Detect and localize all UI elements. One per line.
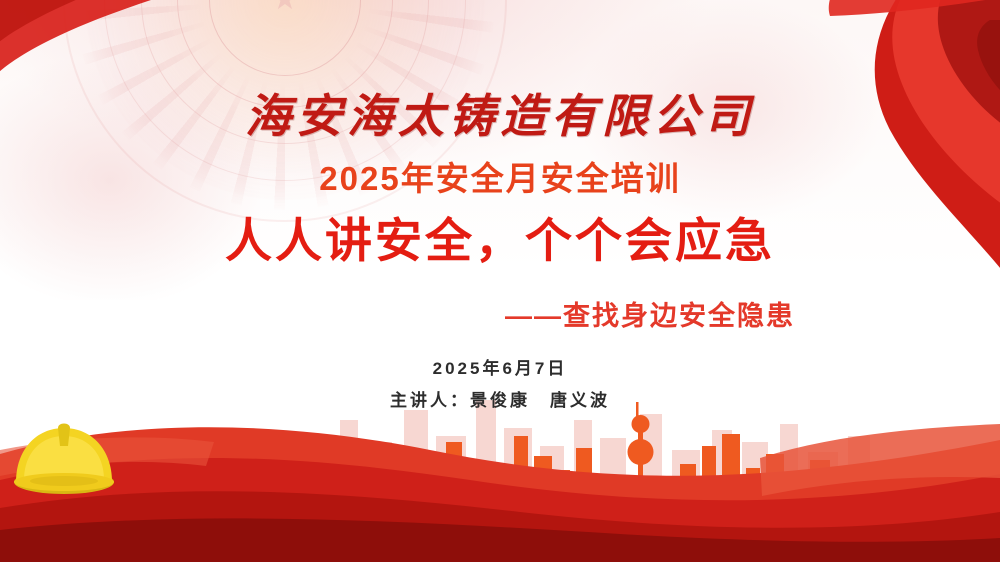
tagline: ——查找身边安全隐患 — [0, 294, 1000, 333]
presentation-date: 2025年6月7日 — [0, 354, 1000, 379]
main-slogan: 人人讲安全，个个会应急 — [0, 202, 1000, 271]
presenter-names: 主讲人：景俊康 唐义波 — [0, 386, 1000, 411]
slide-content: 海安海太铸造有限公司 2025年安全月安全培训 人人讲安全，个个会应急 ——查找… — [0, 0, 1000, 562]
company-title: 海安海太铸造有限公司 — [0, 80, 1000, 146]
training-subtitle: 2025年安全月安全培训 — [0, 152, 1000, 200]
presentation-slide: ★ — [0, 0, 1000, 562]
